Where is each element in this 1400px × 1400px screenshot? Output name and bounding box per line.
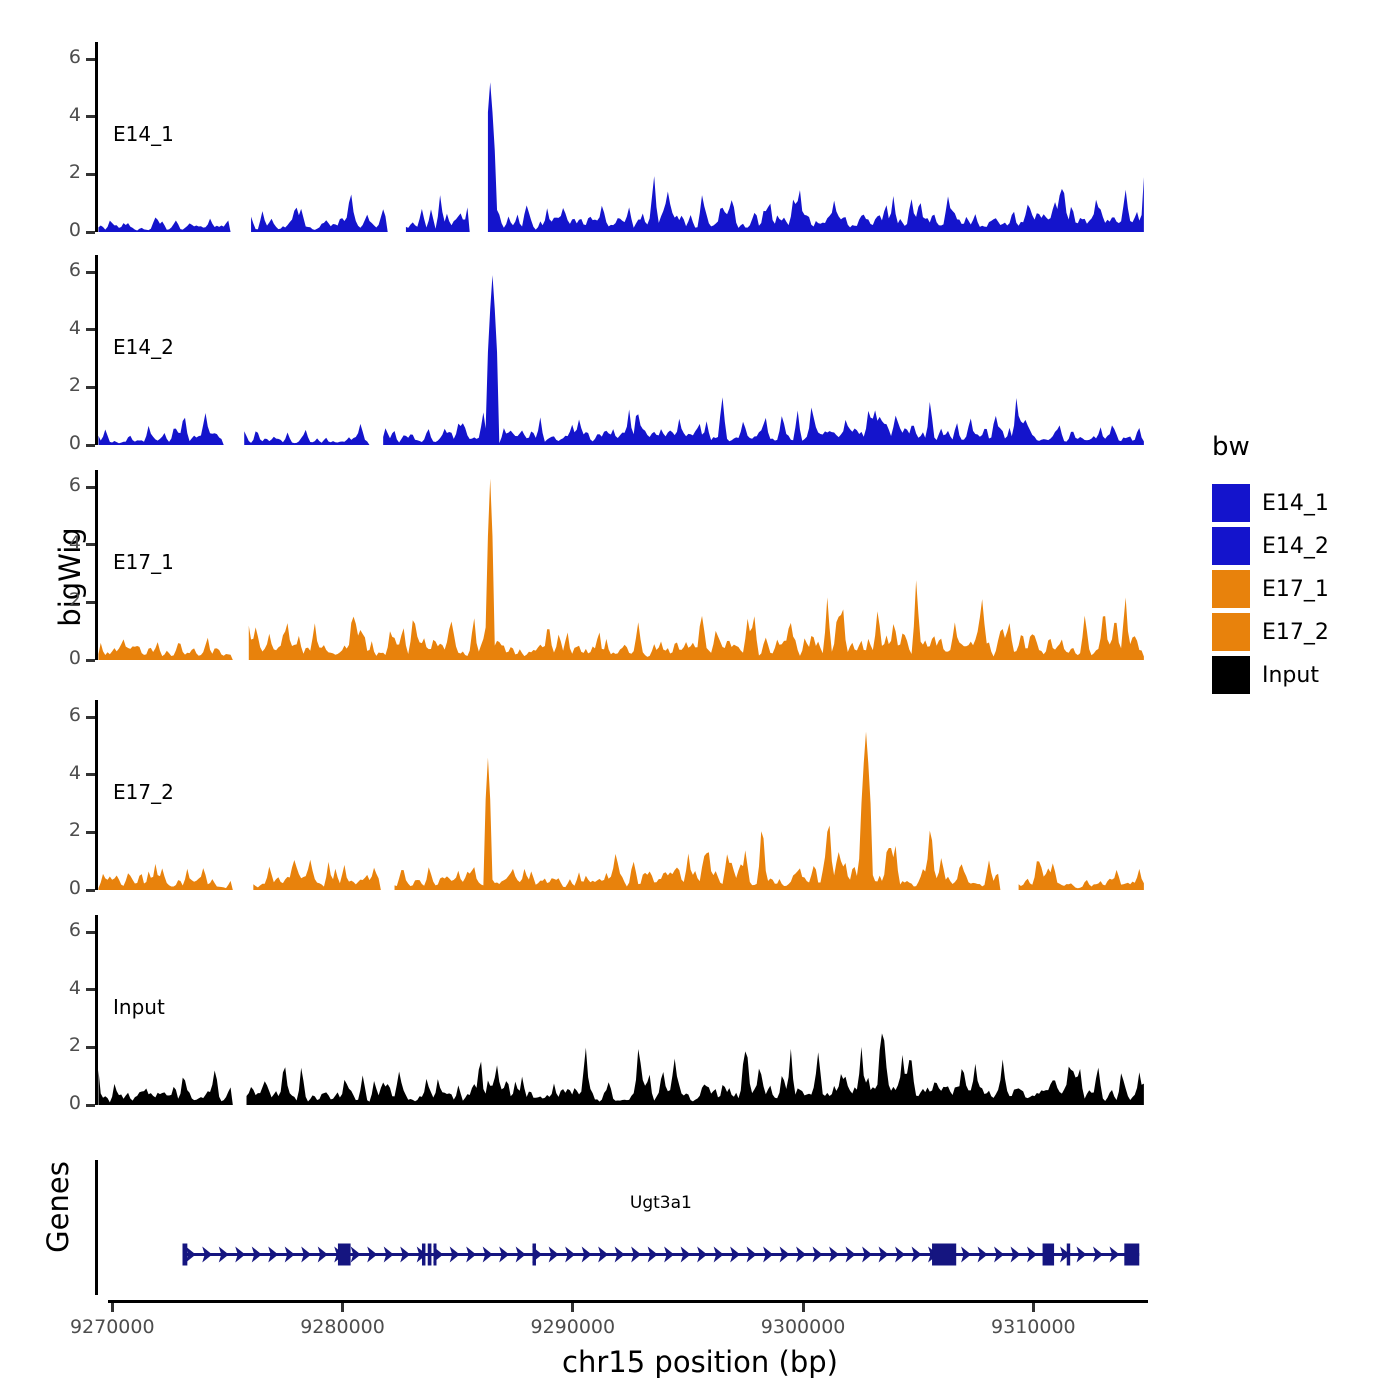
legend-item-label: E17_2 bbox=[1262, 620, 1329, 645]
x-tick-mark bbox=[571, 1303, 574, 1312]
x-tick-mark bbox=[802, 1303, 805, 1312]
signal-area-e14_1 bbox=[0, 42, 1200, 232]
legend-item-e14_1[interactable]: E14_1 bbox=[1212, 484, 1329, 522]
signal-area-e17_1 bbox=[0, 470, 1200, 660]
legend-item-input[interactable]: Input bbox=[1212, 656, 1329, 694]
track-panel-e14_1: 0246E14_1 bbox=[0, 42, 1200, 232]
legend-item-label: Input bbox=[1262, 663, 1319, 688]
x-axis-title: chr15 position (bp) bbox=[0, 1345, 1400, 1379]
legend-item-label: E17_1 bbox=[1262, 577, 1329, 602]
x-tick-mark bbox=[111, 1303, 114, 1312]
legend-color-swatch bbox=[1212, 527, 1250, 565]
x-tick-label: 9280000 bbox=[263, 1316, 423, 1338]
legend-item-e17_2[interactable]: E17_2 bbox=[1212, 613, 1329, 651]
signal-area-e17_2 bbox=[0, 700, 1200, 890]
legend-item-e14_2[interactable]: E14_2 bbox=[1212, 527, 1329, 565]
bigwig-genome-browser-figure: bigWig Genes 0246E14_10246E14_20246E17_1… bbox=[0, 0, 1400, 1400]
track-panel-e14_2: 0246E14_2 bbox=[0, 255, 1200, 445]
gene-track-panel: Ugt3a1 bbox=[0, 1160, 1200, 1295]
gene-model bbox=[0, 1160, 1200, 1295]
track-panel-e17_1: 0246E17_1 bbox=[0, 470, 1200, 660]
legend-color-swatch bbox=[1212, 484, 1250, 522]
legend-color-swatch bbox=[1212, 570, 1250, 608]
x-tick-label: 9310000 bbox=[953, 1316, 1113, 1338]
x-axis-line bbox=[108, 1300, 1149, 1303]
x-tick-mark bbox=[341, 1303, 344, 1312]
legend-items: E14_1E14_2E17_1E17_2Input bbox=[1212, 484, 1329, 694]
legend-item-label: E14_2 bbox=[1262, 534, 1329, 559]
legend-item-label: E14_1 bbox=[1262, 491, 1329, 516]
track-panel-e17_2: 0246E17_2 bbox=[0, 700, 1200, 890]
x-tick-mark bbox=[1032, 1303, 1035, 1312]
legend-item-e17_1[interactable]: E17_1 bbox=[1212, 570, 1329, 608]
legend: bw E14_1E14_2E17_1E17_2Input bbox=[1212, 432, 1329, 699]
legend-color-swatch bbox=[1212, 613, 1250, 651]
track-panel-input: 0246Input bbox=[0, 915, 1200, 1105]
x-tick-label: 9300000 bbox=[723, 1316, 883, 1338]
legend-title: bw bbox=[1212, 432, 1329, 462]
signal-area-input bbox=[0, 915, 1200, 1105]
legend-color-swatch bbox=[1212, 656, 1250, 694]
x-tick-label: 9290000 bbox=[493, 1316, 653, 1338]
x-tick-label: 9270000 bbox=[32, 1316, 192, 1338]
signal-area-e14_2 bbox=[0, 255, 1200, 445]
